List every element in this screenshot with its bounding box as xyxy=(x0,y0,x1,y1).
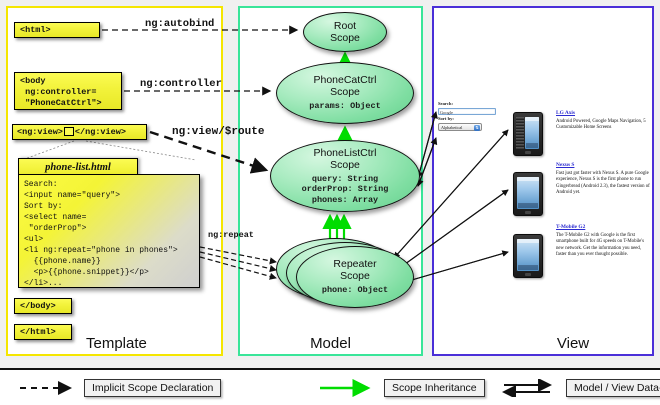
code-box-html-close: </html> xyxy=(14,324,72,340)
code-box-html-open: <html> xyxy=(14,22,100,38)
scope-root: Root Scope xyxy=(303,12,387,52)
scope-root-name: Root Scope xyxy=(330,20,360,44)
legend: Implicit Scope Declaration Scope Inherit… xyxy=(0,368,660,405)
diagram-canvas: Template Model View xyxy=(0,0,660,368)
scope-repeater-name: Repeater Scope xyxy=(333,258,376,282)
callout-code: Search: <input name="query"> Sort by: <s… xyxy=(18,174,200,288)
phone-name-link[interactable]: T-Mobile G2 xyxy=(556,224,652,231)
view-search-label: Search: xyxy=(438,101,500,107)
sort-select-value: Alphabetical xyxy=(441,125,462,130)
dashed-arrow-icon xyxy=(18,379,78,397)
phone-statusbar xyxy=(517,239,539,243)
keyboard-icon xyxy=(516,117,524,149)
ngview-close-tag: </ng:view> xyxy=(75,127,126,137)
scope-phonecatctrl-props: params: Object xyxy=(309,101,380,112)
phone-snippet: Fast just got faster with Nexus S. A pur… xyxy=(556,171,652,196)
column-label-view: View xyxy=(434,335,660,352)
phone-snippet: The T-Mobile G2 with Google is the first… xyxy=(556,233,652,258)
search-input[interactable]: Google xyxy=(438,108,496,115)
phone-home-button-icon xyxy=(525,273,531,276)
double-arrow-icon xyxy=(500,379,560,397)
legend-item-scope-inheritance: Scope Inheritance xyxy=(318,378,485,398)
scope-phonelistctrl-props: query: String orderProp: String phones: … xyxy=(302,174,389,206)
code-box-ngview: <ng:view></ng:view> xyxy=(12,124,147,140)
ngview-slot-icon xyxy=(64,127,74,136)
view-search-controls: Search: Google Sort by: Alphabetical⇅ xyxy=(438,101,500,131)
phone-name-link[interactable]: LG Axis xyxy=(556,110,652,117)
phone-list-item[interactable]: LG Axis Android Powered, Google Maps Nav… xyxy=(556,110,652,132)
legend-label-scope-inheritance: Scope Inheritance xyxy=(384,379,485,397)
phone-statusbar xyxy=(525,117,539,121)
phone-thumbnail-3 xyxy=(513,234,543,278)
connector-label-ngview: ng:view/$route xyxy=(172,126,264,138)
phone-name-link[interactable]: Nexus S xyxy=(556,162,652,169)
scope-phonecatctrl-name: PhoneCatCtrl Scope xyxy=(313,74,376,98)
phone-list-item[interactable]: Nexus S Fast just got faster with Nexus … xyxy=(556,162,652,196)
phone-screen xyxy=(525,117,539,149)
code-box-body-close: </body> xyxy=(14,298,72,314)
phone-home-button-icon xyxy=(525,211,531,214)
connector-label-controller: ng:controller xyxy=(140,78,222,90)
scope-repeater: Repeater Scope phone: Object xyxy=(296,246,414,308)
legend-item-data-binding: Model / View Data-binding xyxy=(500,378,660,398)
connector-label-repeat: ng:repeat xyxy=(208,230,254,240)
sort-select[interactable]: Alphabetical⇅ xyxy=(438,123,482,131)
phone-thumbnail-2 xyxy=(513,172,543,216)
phone-screen xyxy=(517,177,539,209)
phone-dock xyxy=(526,143,538,148)
view-sort-label: Sort by: xyxy=(438,116,500,122)
legend-label-data-binding: Model / View Data-binding xyxy=(566,379,660,397)
chevron-down-icon: ⇅ xyxy=(474,125,480,131)
phone-home-button-icon xyxy=(525,151,531,154)
code-box-body-open: <body ng:controller= "PhoneCatCtrl"> xyxy=(14,72,122,110)
diagram-root: Template Model View xyxy=(0,0,660,405)
phone-statusbar xyxy=(517,177,539,181)
connector-label-autobind: ng:autobind xyxy=(145,18,214,30)
phone-list-item[interactable]: T-Mobile G2 The T-Mobile G2 with Google … xyxy=(556,224,652,258)
phone-snippet: Android Powered, Google Maps Navigation,… xyxy=(556,119,652,132)
scope-phonelistctrl: PhoneListCtrl Scope query: String orderP… xyxy=(270,140,420,212)
green-arrow-icon xyxy=(318,379,378,397)
scope-phonelistctrl-name: PhoneListCtrl Scope xyxy=(313,147,376,171)
phone-screen xyxy=(517,239,539,271)
column-label-model: Model xyxy=(240,335,421,352)
phone-thumbnail-1 xyxy=(513,112,543,156)
ngview-open-tag: <ng:view> xyxy=(17,127,63,137)
legend-item-implicit-scope-declaration: Implicit Scope Declaration xyxy=(18,378,221,398)
scope-repeater-props: phone: Object xyxy=(322,285,388,296)
scope-phonecatctrl: PhoneCatCtrl Scope params: Object xyxy=(276,62,414,124)
phone-dock xyxy=(518,265,538,270)
legend-label-implicit-scope-declaration: Implicit Scope Declaration xyxy=(84,379,221,397)
template-callout-phone-list: phone-list.html Search: <input name="que… xyxy=(18,158,200,288)
phone-dock xyxy=(518,203,538,208)
